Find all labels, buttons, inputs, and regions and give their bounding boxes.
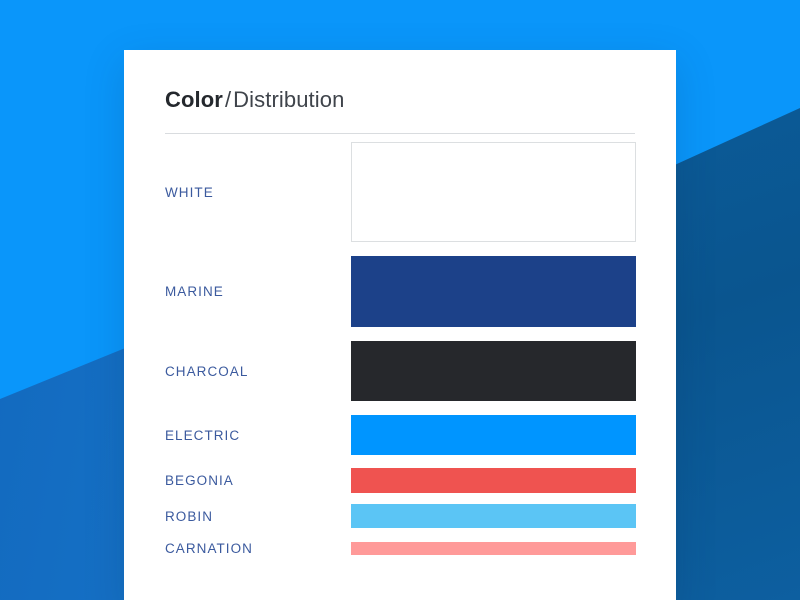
page-title-separator: / [223, 87, 233, 112]
chart-row-label-marine: MARINE [165, 284, 351, 299]
chart-row: ROBIN [165, 504, 635, 528]
chart-row-label-robin: ROBIN [165, 509, 351, 524]
page-title: Color/Distribution [165, 86, 635, 114]
chart-bar-marine[interactable] [351, 256, 636, 327]
page-title-strong: Color [165, 87, 223, 112]
chart-row-label-white: WHITE [165, 185, 351, 200]
card-inner: Color/Distribution WHITEMARINECHARCOALEL… [124, 50, 676, 556]
page-title-light: Distribution [233, 87, 344, 112]
chart-bar-carnation[interactable] [351, 542, 636, 555]
chart-bar-electric[interactable] [351, 415, 636, 455]
chart-row-bar-wrap [351, 504, 636, 528]
chart-row-bar-wrap [351, 341, 636, 401]
chart-bar-robin[interactable] [351, 504, 636, 528]
chart-row: WHITE [165, 142, 635, 242]
chart-row: BEGONIA [165, 468, 635, 493]
screenshot-stage: Color/Distribution WHITEMARINECHARCOALEL… [0, 0, 800, 600]
chart-row-bar-wrap [351, 468, 636, 493]
chart-row: MARINE [165, 256, 635, 327]
chart-bar-charcoal[interactable] [351, 341, 636, 401]
title-divider [165, 133, 635, 134]
chart-row-bar-wrap [351, 415, 636, 455]
chart-row-bar-wrap [351, 142, 636, 242]
chart-row-bar-wrap [351, 542, 636, 555]
chart-bar-white[interactable] [351, 142, 636, 242]
chart-row-label-begonia: BEGONIA [165, 473, 351, 488]
chart-row-label-charcoal: CHARCOAL [165, 364, 351, 379]
chart-row-label-carnation: CARNATION [165, 541, 351, 556]
chart-row: CHARCOAL [165, 341, 635, 401]
color-distribution-card: Color/Distribution WHITEMARINECHARCOALEL… [124, 50, 676, 600]
chart-row-bar-wrap [351, 256, 636, 327]
chart-bar-begonia[interactable] [351, 468, 636, 493]
chart-row-label-electric: ELECTRIC [165, 428, 351, 443]
chart-row: ELECTRIC [165, 415, 635, 455]
color-distribution-chart: WHITEMARINECHARCOALELECTRICBEGONIAROBINC… [165, 142, 635, 556]
chart-row: CARNATION [165, 541, 635, 556]
